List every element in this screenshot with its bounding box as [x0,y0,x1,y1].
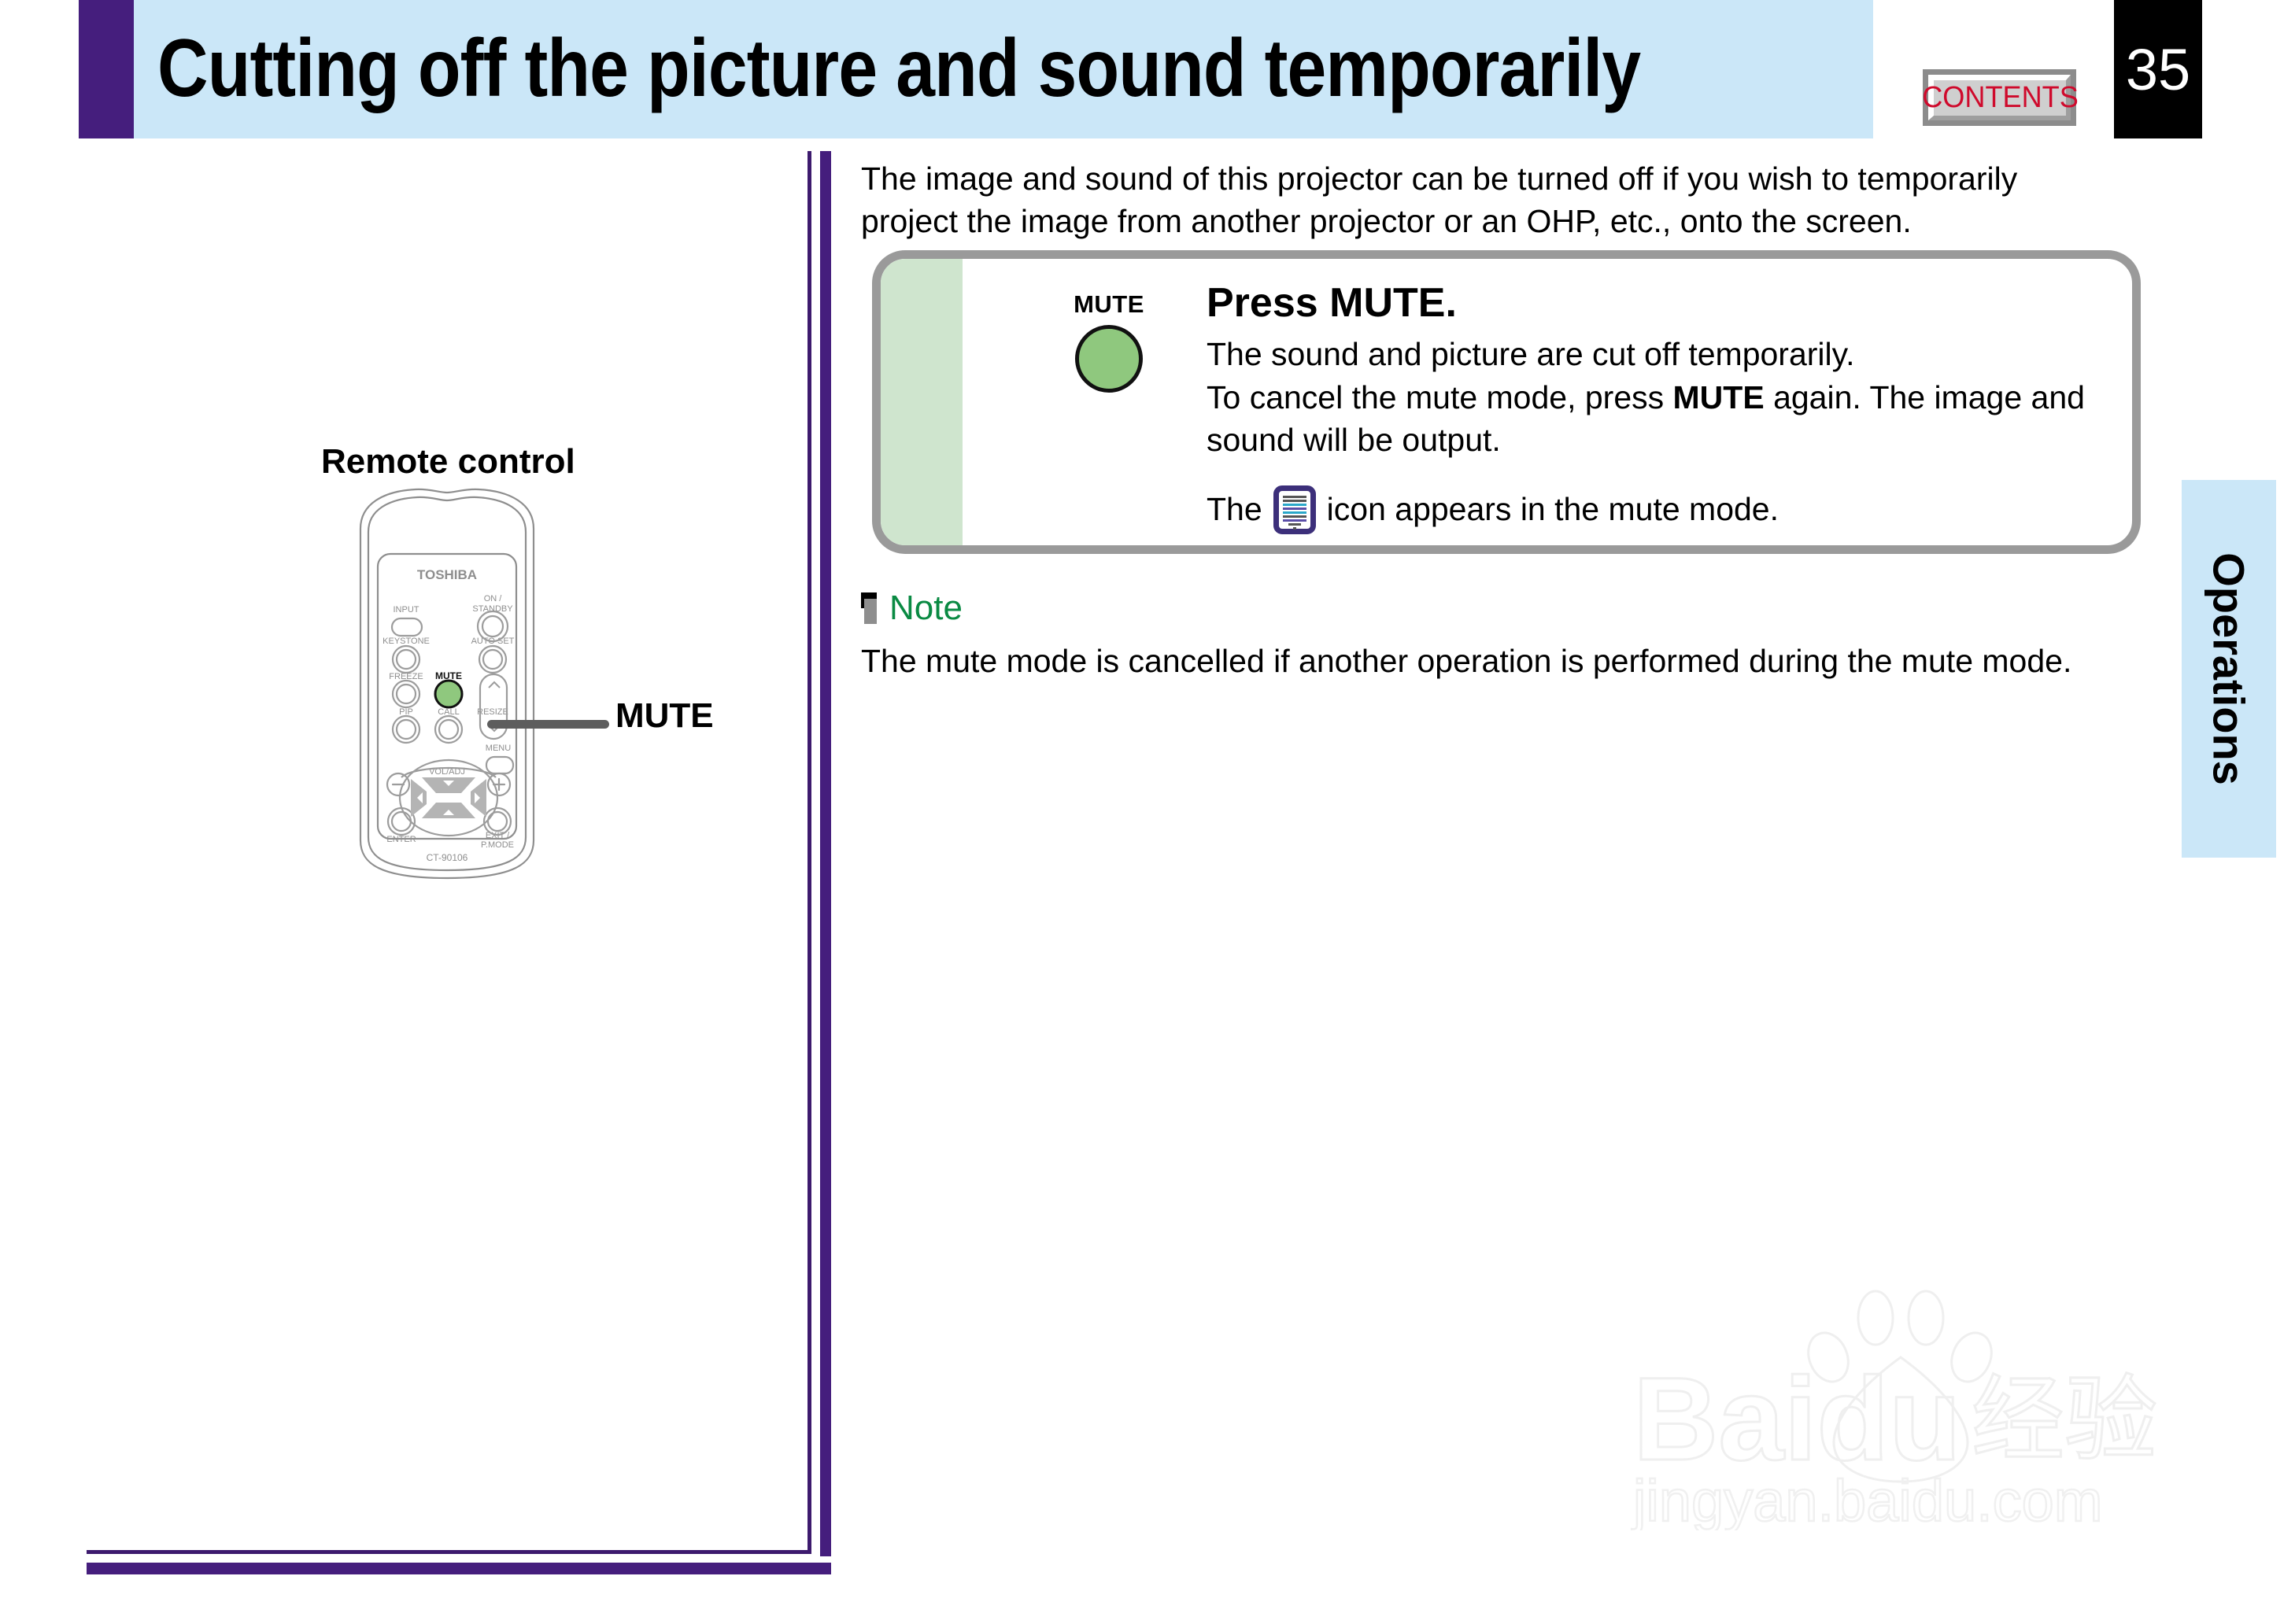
side-tab-label: Operations [2204,552,2255,785]
page-title: Cutting off the picture and sound tempor… [157,22,1640,116]
contents-button[interactable]: CONTENTS [1923,69,2076,126]
contents-button-face: CONTENTS [1928,75,2071,120]
contents-button-label: CONTENTS [1922,81,2079,115]
remote-label-on: ON / [484,594,503,603]
note-title: Note [889,589,963,628]
mute-callout-label: MUTE [615,696,714,736]
step-instruction-box: MUTE Press MUTE. The sound and picture a… [872,250,2141,554]
bottom-rule-thick [87,1563,831,1574]
note-header: Note [861,589,2120,628]
column-divider-thin [807,151,811,1550]
remote-label-standby: STANDBY [472,604,513,614]
baidu-watermark: Baidu 经验 jingyan.baidu.com [1625,1271,2208,1530]
remote-label-keystone: KEYSTONE [382,637,430,646]
mute-screen-icon [1273,485,1316,534]
step-icon-line-after: icon appears in the mute mode. [1327,491,1779,528]
remote-model-label: CT-90106 [427,852,468,863]
step-description-line1: The sound and picture are cut off tempor… [1207,333,2088,376]
step-title: Press MUTE. [1207,279,2088,327]
remote-control-illustration: TOSHIBA INPUT ON / STANDBY KEYSTONE AUTO… [329,480,565,889]
intro-paragraph: The image and sound of this projector ca… [861,157,2105,242]
note-block: Note The mute mode is cancelled if anoth… [861,589,2120,682]
step-key-illustration: MUTE [1038,290,1180,393]
remote-caption: Remote control [321,442,575,482]
remote-button-input [392,618,422,636]
step-line2-part-a: To cancel the mute mode, press [1207,379,1673,415]
remote-button-mute-highlighted [435,681,462,707]
step-box-stripe [881,259,963,545]
page-number-badge: 35 [2114,0,2202,138]
step-description-line2: To cancel the mute mode, press MUTE agai… [1207,376,2088,462]
note-text: The mute mode is cancelled if another op… [861,640,2120,682]
column-divider-thick [820,151,831,1556]
step-icon-line-before: The [1207,491,1262,528]
remote-label-pmode: P.MODE [481,840,514,850]
page-number: 35 [2126,36,2190,103]
mute-callout-leader-line [487,720,609,729]
watermark-cn: 经验 [1972,1365,2157,1474]
remote-label-menu: MENU [486,744,511,753]
manual-page: Cutting off the picture and sound tempor… [0,0,2295,1624]
step-key-label: MUTE [1038,290,1180,319]
bottom-rule-thin [87,1550,811,1554]
remote-button-menu [486,757,513,773]
mute-key-button[interactable] [1075,325,1143,393]
step-icon-line: The icon appears in the mute mode. [1207,485,2088,534]
remote-label-enter: ENTER [386,835,416,844]
remote-label-input: INPUT [394,605,419,615]
remote-label-resize: RESIZE [477,707,508,717]
watermark-url: jingyan.baidu.com [1632,1468,2102,1530]
step-body: Press MUTE. The sound and picture are cu… [1207,279,2088,534]
step-line2-keyword: MUTE [1673,379,1765,415]
note-marker-icon [861,592,881,624]
watermark-brand: Baidu [1633,1353,1961,1485]
side-tab-operations[interactable]: Operations [2182,480,2276,858]
remote-resize-up-arrow [489,682,500,688]
header-accent-block [79,0,134,138]
remote-brand-label: TOSHIBA [417,567,477,582]
